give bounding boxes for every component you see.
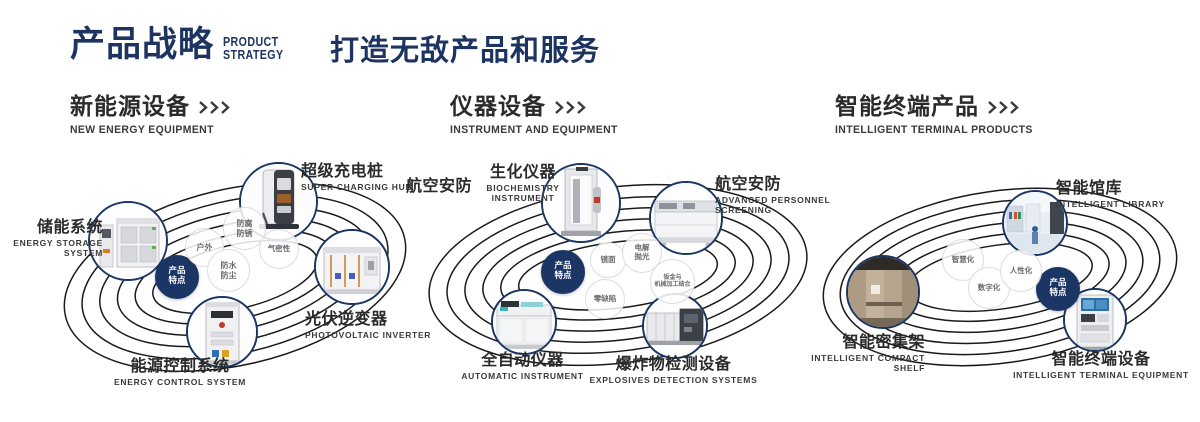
label-intelligent-library: 智能馆库 INTELLIGENT LIBRARY	[1056, 179, 1196, 209]
feature-text: 气密性	[268, 245, 291, 254]
node-label-cn: 智能终端设备	[1006, 350, 1196, 368]
header-subtitle: 打造无敌产品和服务	[330, 36, 600, 65]
node-label-en: INTELLIGENT LIBRARY	[1056, 199, 1196, 210]
feature-text: 数字化	[978, 284, 1001, 293]
label-biochemistry-instrument: 生化仪器 BIOCHEMISTRY INSTRUMENT	[468, 163, 578, 204]
label-intelligent-terminal-equipment: 智能终端设备 INTELLIGENT TERMINAL EQUIPMENT	[1006, 350, 1196, 380]
section-title-cn: 新能源设备	[70, 95, 190, 119]
feature-text: 户外	[197, 243, 213, 252]
section-title-instrument: 仪器设备 INSTRUMENT AND EQUIPMENT	[450, 95, 627, 136]
cluster-new-energy-equipment: 储能系统 ENERGY STORAGE SYSTEM 超级充电桩 SUPER C…	[55, 155, 415, 395]
poster-header: 产品战略 PRODUCT STRATEGY	[70, 28, 297, 63]
chevrons-right-icon	[199, 101, 230, 114]
poster-canvas: 产品战略 PRODUCT STRATEGY 打造无敌产品和服务 新能源设备 NE…	[0, 0, 1200, 422]
node-label-cn: 智能密集架	[760, 333, 925, 351]
inverter-cabinet-icon	[316, 231, 388, 303]
node-intelligent-compact-shelf[interactable]	[846, 255, 920, 329]
feature-text: 钣金与 机械加工结合	[654, 275, 690, 289]
chevrons-right-icon	[555, 101, 586, 114]
section-title-en: INSTRUMENT AND EQUIPMENT	[450, 124, 618, 136]
node-label-en: ENERGY CONTROL SYSTEM	[85, 377, 275, 388]
header-title-en: PRODUCT STRATEGY	[223, 36, 284, 61]
feature-text: 产品 特点	[1049, 279, 1066, 299]
label-automatic-instrument: 全自动仪器 AUTOMATIC INSTRUMENT	[440, 351, 605, 381]
feature-text: 智慧化	[952, 256, 975, 265]
chevrons-right-icon	[988, 101, 1019, 114]
section-title-cn: 智能终端产品	[835, 95, 979, 119]
cluster-instrument-and-equipment: 航空安防 生化仪器 BIOCHEMISTRY INSTRUMENT	[418, 155, 818, 395]
feature-text: 产品 特点	[168, 267, 185, 287]
feature-text: 防腐 防锈	[237, 219, 253, 237]
cluster-intelligent-terminal-products: 智能馆库 INTELLIGENT LIBRARY 智能密集架 INTELLIGE…	[820, 155, 1200, 400]
header-title-en-line2: STRATEGY	[223, 49, 284, 62]
node-label-en: ENERGY STORAGE SYSTEM	[3, 238, 103, 259]
node-label-cn: 能源控制系统	[85, 357, 275, 375]
node-label-cn: 全自动仪器	[440, 351, 605, 369]
node-label-cn: 智能馆库	[1056, 179, 1196, 197]
node-label-en: INTELLIGENT COMPACT SHELF	[760, 353, 925, 374]
feature-bubble-main[interactable]: 产品 特点	[541, 250, 585, 294]
feature-text: 镜面	[601, 256, 616, 265]
node-label-en: EXPLOSIVES DETECTION SYSTEMS	[586, 375, 761, 386]
node-automatic-instrument[interactable]	[491, 289, 557, 355]
feature-text: 零缺陷	[594, 295, 617, 304]
node-label-en: AUTOMATIC INSTRUMENT	[440, 371, 605, 382]
node-label-en: BIOCHEMISTRY INSTRUMENT	[468, 183, 578, 204]
feature-bubble[interactable]: 钣金与 机械加工结合	[650, 259, 695, 304]
auto-analyzer-icon	[493, 291, 555, 353]
feature-text: 人性化	[1010, 267, 1033, 276]
label-intelligent-compact-shelf: 智能密集架 INTELLIGENT COMPACT SHELF	[760, 333, 925, 374]
explosive-detector-icon	[644, 295, 706, 357]
feature-bubble[interactable]: 防水 防尘	[207, 249, 250, 292]
feature-text: 电解 抛光	[635, 244, 650, 261]
feature-text: 产品 特点	[554, 262, 571, 282]
compact-shelf-icon	[848, 257, 918, 327]
section-title-new-energy: 新能源设备 NEW ENERGY EQUIPMENT	[70, 95, 230, 136]
feature-bubble[interactable]: 镜面	[590, 242, 626, 278]
label-energy-storage-system: 储能系统 ENERGY STORAGE SYSTEM	[3, 218, 103, 259]
feature-bubble-main[interactable]: 产品 特点	[1036, 267, 1080, 311]
feature-bubble[interactable]: 人性化	[1000, 250, 1042, 292]
section-title-en: NEW ENERGY EQUIPMENT	[70, 124, 222, 136]
node-label-cn: 爆炸物检测设备	[586, 355, 761, 373]
header-title-cn: 产品战略	[70, 28, 214, 63]
feature-bubble[interactable]: 气密性	[259, 229, 299, 269]
feature-text: 防水 防尘	[221, 261, 237, 279]
feature-bubble[interactable]: 零缺陷	[585, 279, 625, 319]
label-explosives-detection-systems: 爆炸物检测设备 EXPLOSIVES DETECTION SYSTEMS	[586, 355, 761, 385]
section-title-cn: 仪器设备	[450, 95, 546, 119]
section-title-intelligent: 智能终端产品 INTELLIGENT TERMINAL PRODUCTS	[835, 95, 1043, 136]
section-title-en: INTELLIGENT TERMINAL PRODUCTS	[835, 124, 1033, 136]
screening-machine-icon	[651, 183, 721, 253]
node-photovoltaic-inverter[interactable]	[314, 229, 390, 305]
node-label-cn: 储能系统	[3, 218, 103, 236]
label-energy-control-system: 能源控制系统 ENERGY CONTROL SYSTEM	[85, 357, 275, 387]
node-label-cn: 生化仪器	[468, 163, 578, 181]
node-label-en: INTELLIGENT TERMINAL EQUIPMENT	[1006, 370, 1196, 381]
